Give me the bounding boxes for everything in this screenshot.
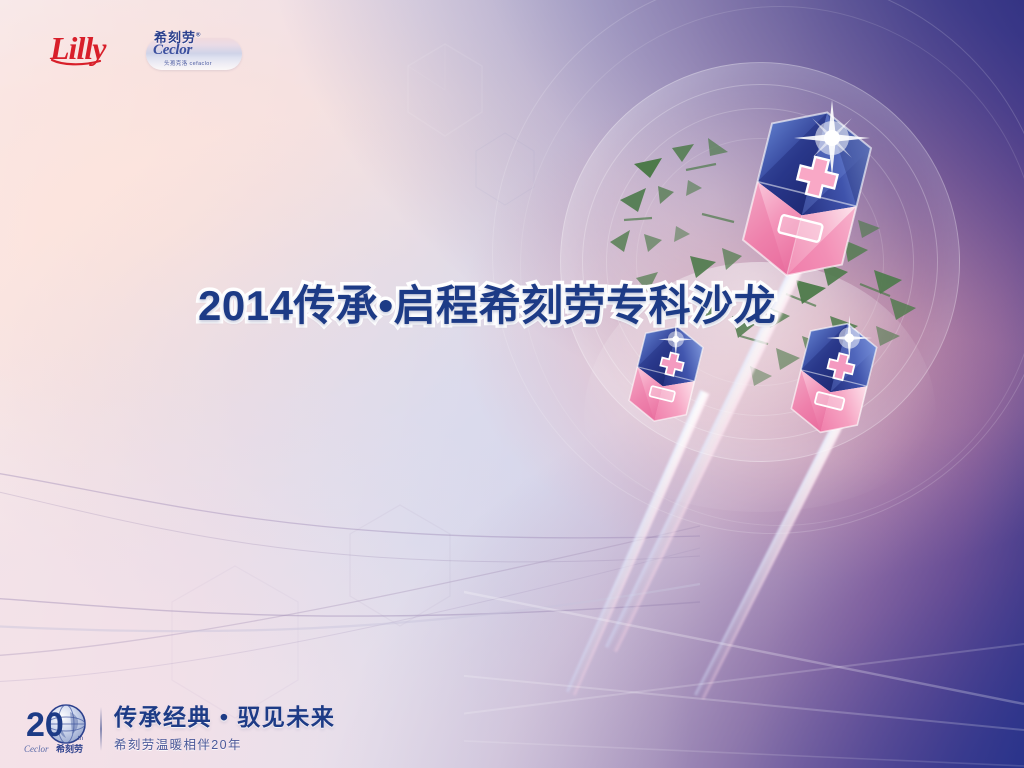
anniversary-headline: 传承经典 • 驭见未来 [114, 705, 335, 730]
anniversary-text-block: 传承经典 • 驭见未来 希刻劳温暖相伴20年 [114, 705, 335, 753]
anniversary-20-mark-icon: 20 th Ceclor 希刻劳 [22, 700, 96, 758]
anniversary-lockup: 20 th Ceclor 希刻劳 传承经典 • 驭见未来 希刻劳温暖相伴20年 [22, 700, 335, 758]
page-title: 2014传承•启程希刻劳专科沙龙 [198, 272, 776, 333]
anniversary-divider [100, 707, 102, 751]
svg-text:希刻劳: 希刻劳 [56, 743, 83, 754]
ceclor-logo-english: Ceclor [153, 42, 192, 59]
svg-text:20: 20 [26, 706, 64, 744]
crystal-gem-right [788, 318, 880, 438]
ceclor-logo-tagline: 头孢克洛 cefaclor [164, 59, 212, 67]
crystal-gem-main [742, 104, 872, 284]
ceclor-logo: 希刻劳® Ceclor 头孢克洛 cefaclor [146, 26, 242, 72]
title-slide: 2014传承•启程希刻劳专科沙龙 Lilly 希刻劳® Ceclor 头孢克洛 … [0, 0, 1024, 768]
svg-text:Ceclor: Ceclor [24, 744, 49, 754]
lilly-logo: Lilly [48, 29, 120, 69]
svg-text:th: th [78, 736, 83, 742]
crystal-gem-left [628, 322, 704, 426]
hexagon-watermark-icon [400, 40, 490, 140]
anniversary-subline: 希刻劳温暖相伴20年 [114, 734, 335, 753]
brand-logo-group: Lilly 希刻劳® Ceclor 头孢克洛 cefaclor [48, 26, 242, 72]
